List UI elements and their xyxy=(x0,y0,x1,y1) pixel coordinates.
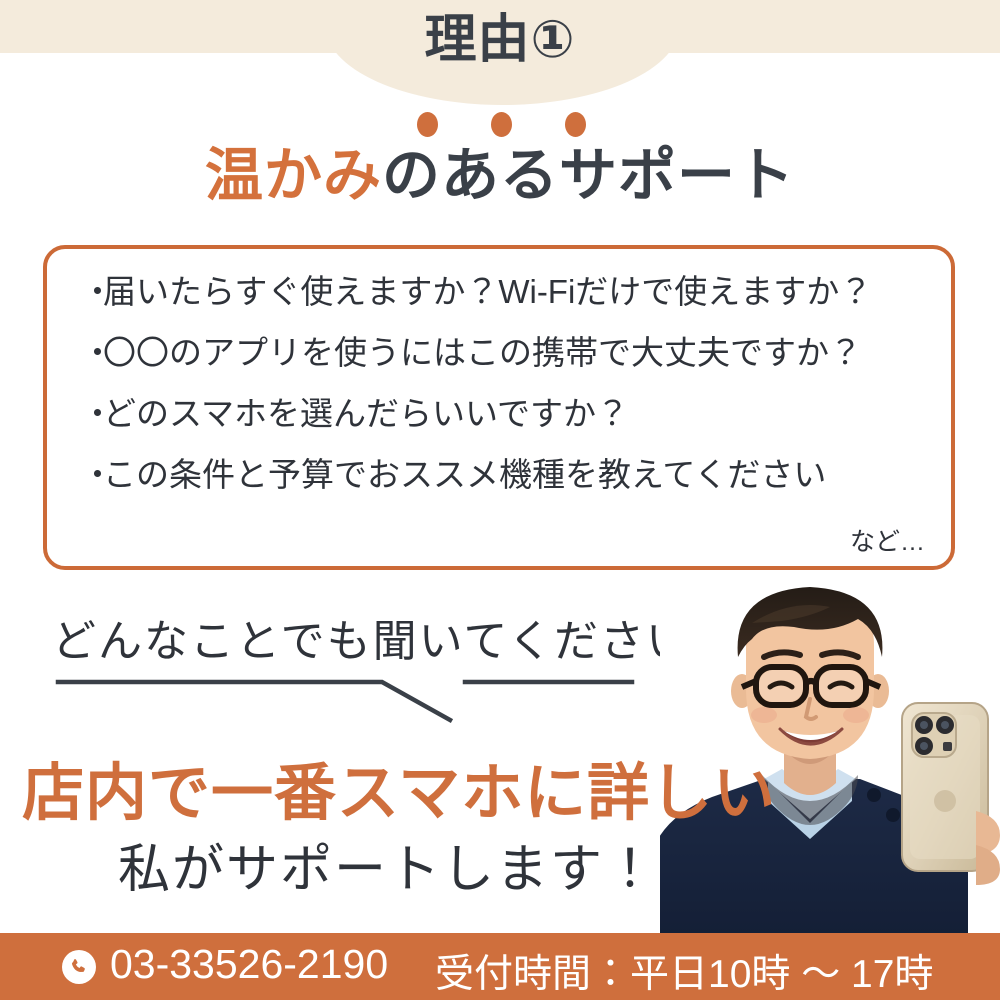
phone-icon xyxy=(62,950,96,984)
bullet-icon: ・ xyxy=(81,336,103,369)
poster-canvas: 理由① 温かみのあるサポート ・ 届いたらすぐ使えますか？Wi-Fiだけで使えま… xyxy=(0,0,1000,1000)
contact-footer: 03-33526-2190 受付時間：平日10時 〜 17時 xyxy=(0,933,1000,1000)
bullet-icon: ・ xyxy=(81,275,103,308)
page-title: 理由① xyxy=(0,14,1000,66)
list-item-label: 〇〇のアプリを使うにはこの携帯で大丈夫ですか？ xyxy=(103,336,862,369)
phone-number[interactable]: 03-33526-2190 xyxy=(110,941,388,988)
speech-bubble-rule xyxy=(40,668,680,730)
list-item: ・ 〇〇のアプリを使うにはこの携帯で大丈夫ですか？ xyxy=(81,336,931,369)
section-subtitle: 温かみのあるサポート xyxy=(0,143,1000,210)
list-item: ・ この条件と予算でおススメ機種を教えてください xyxy=(81,458,931,491)
ask-anything-text: どんなことでも聞いてください！ xyxy=(52,605,738,669)
bullet-icon: ・ xyxy=(81,397,103,430)
list-item: ・ どのスマホを選んだらいいですか？ xyxy=(81,397,931,430)
dot-icon xyxy=(491,112,512,137)
question-list: ・ 届いたらすぐ使えますか？Wi-Fiだけで使えますか？ ・ 〇〇のアプリを使う… xyxy=(81,275,931,491)
list-item-label: この条件と予算でおススメ機種を教えてください xyxy=(103,458,826,491)
list-item-label: 届いたらすぐ使えますか？Wi-Fiだけで使えますか？ xyxy=(103,275,872,308)
promo-subheadline: 私がサポートします！ xyxy=(118,827,658,902)
trailing-note: など… xyxy=(850,522,925,558)
bullet-icon: ・ xyxy=(81,458,103,491)
question-box: ・ 届いたらすぐ使えますか？Wi-Fiだけで使えますか？ ・ 〇〇のアプリを使う… xyxy=(43,245,955,570)
list-item-label: どのスマホを選んだらいいですか？ xyxy=(103,397,629,430)
dot-icon xyxy=(417,112,438,137)
subtitle-rest-text: のあるサポート xyxy=(382,143,795,208)
business-hours: 受付時間：平日10時 〜 17時 xyxy=(435,943,933,999)
promo-headline: 店内で一番スマホに詳しい xyxy=(22,742,776,832)
decorative-dots xyxy=(0,112,1000,137)
dot-icon xyxy=(565,112,586,137)
subtitle-accent-text: 温かみ xyxy=(205,143,382,208)
list-item: ・ 届いたらすぐ使えますか？Wi-Fiだけで使えますか？ xyxy=(81,275,931,308)
